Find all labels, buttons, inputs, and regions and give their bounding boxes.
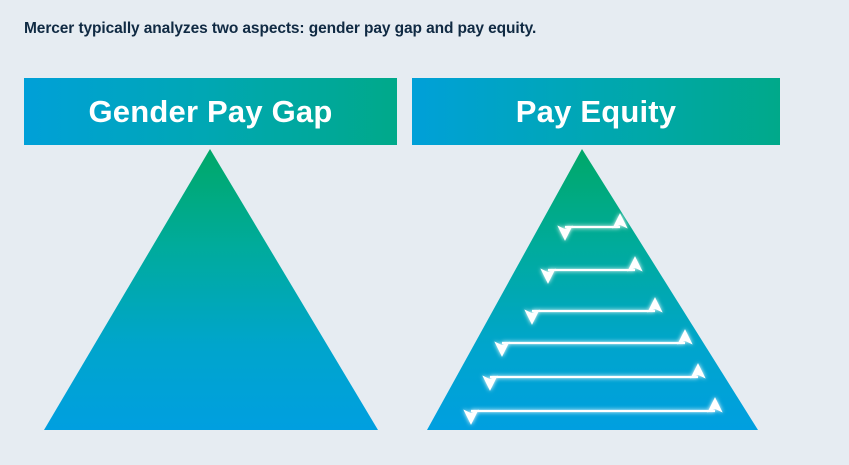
slide-canvas: Mercer typically analyzes two aspects: g… — [0, 0, 849, 465]
banner-label-gender-pay-gap: Gender Pay Gap — [88, 96, 332, 127]
pyramid-pay-equity — [412, 145, 780, 435]
page-title: Mercer typically analyzes two aspects: g… — [24, 20, 536, 38]
banner-label-pay-equity: Pay Equity — [516, 96, 677, 127]
pyramid-gender-pay-gap — [24, 145, 397, 435]
banner-pay-equity: Pay Equity — [412, 78, 780, 145]
pyramid-container-gender-pay-gap — [24, 145, 397, 465]
banner-gender-pay-gap: Gender Pay Gap — [24, 78, 397, 145]
pyramid-container-pay-equity — [412, 145, 780, 465]
triangle-shape-right — [427, 149, 758, 430]
